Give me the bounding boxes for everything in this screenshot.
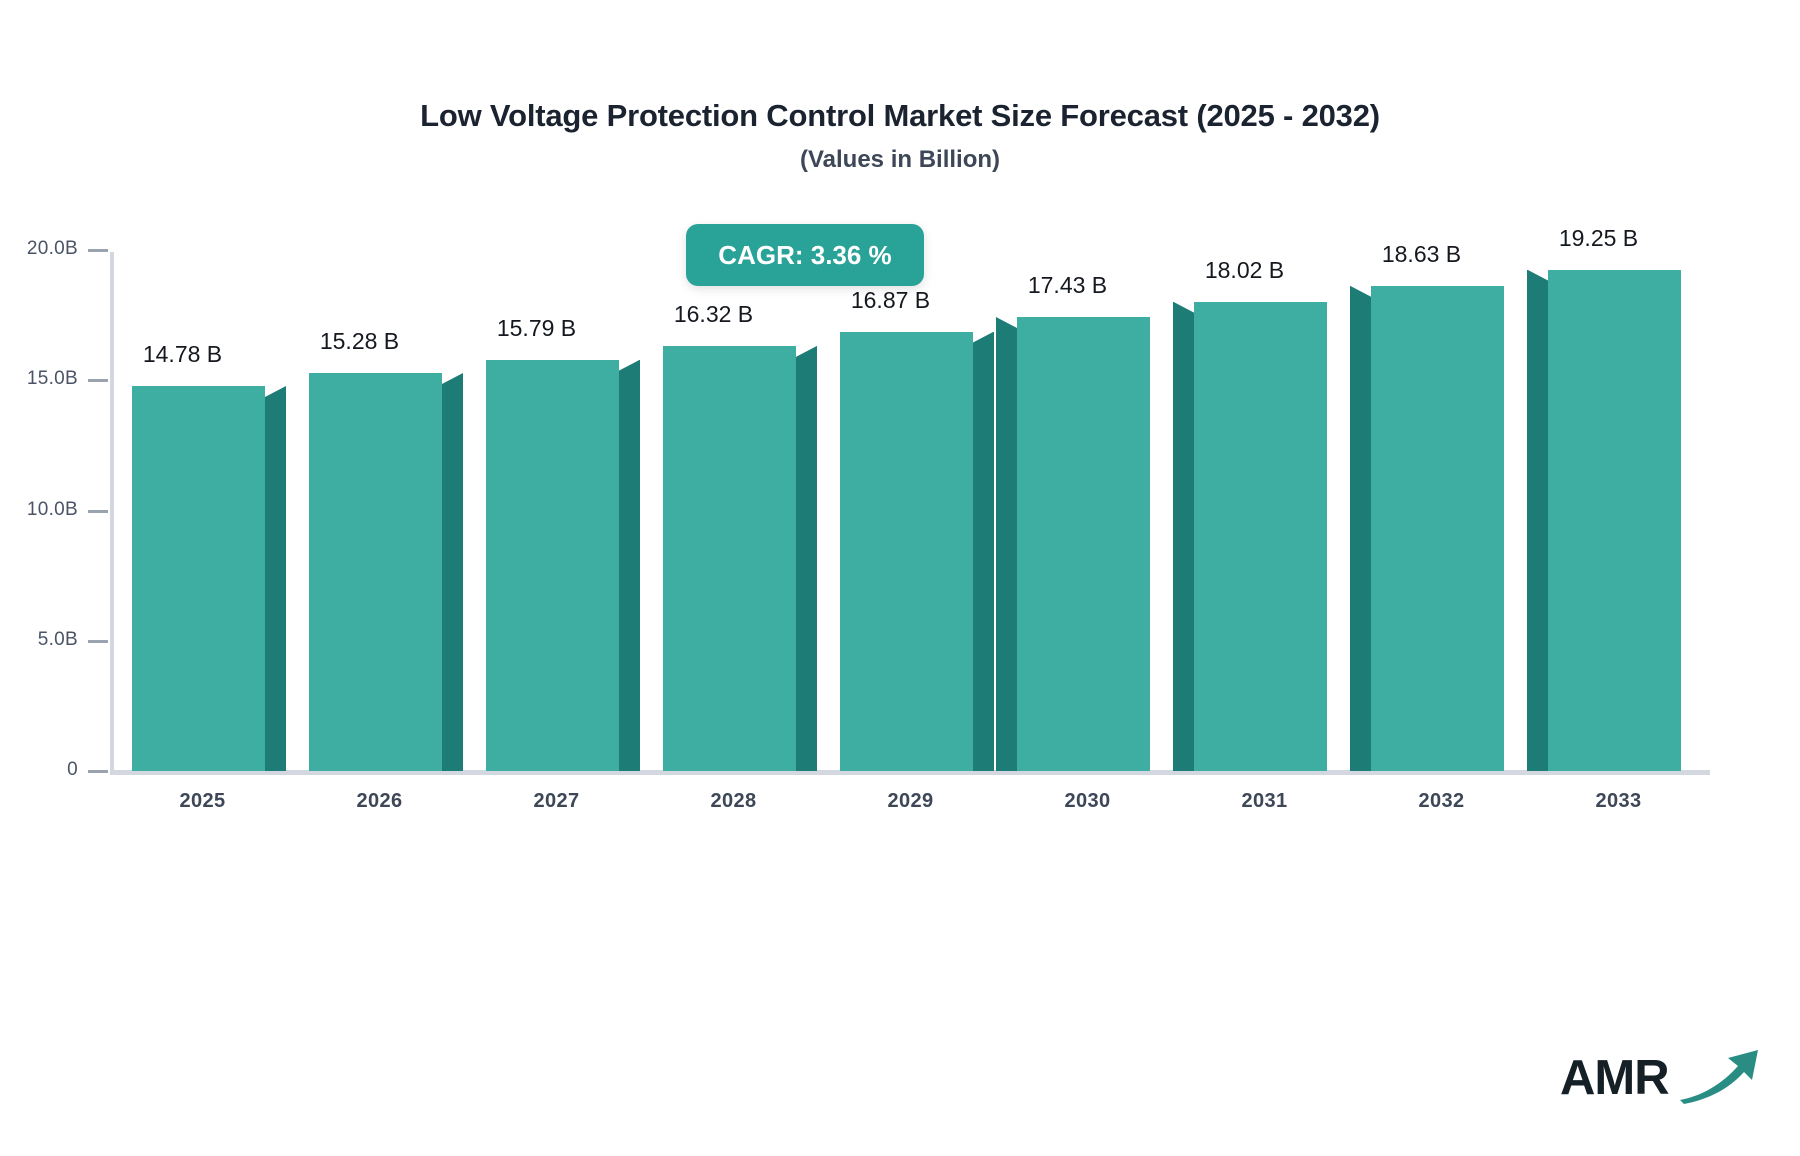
x-axis-label: 2031 bbox=[1176, 790, 1353, 813]
bar-value-label: 15.79 B bbox=[444, 315, 629, 342]
bar-slot: 18.63 B bbox=[1353, 250, 1530, 771]
y-axis-label: 20.0B bbox=[0, 238, 78, 260]
growth-arrow-icon bbox=[1678, 1042, 1764, 1106]
x-axis-label: 2027 bbox=[468, 790, 645, 813]
bar-value-label: 19.25 B bbox=[1506, 225, 1691, 252]
bar-slot: 16.87 B bbox=[822, 250, 999, 771]
amr-logo: AMR bbox=[1560, 1042, 1760, 1114]
bar-value-label: 16.87 B bbox=[798, 287, 983, 314]
bar-value-label: 18.63 B bbox=[1329, 241, 1514, 268]
y-axis-tick bbox=[88, 770, 108, 773]
x-axis-label: 2030 bbox=[999, 790, 1176, 813]
bar-slot: 19.25 B bbox=[1530, 250, 1707, 771]
cagr-badge: CAGR: 3.36 % bbox=[686, 224, 924, 286]
logo-text: AMR bbox=[1560, 1050, 1669, 1106]
y-axis-tick bbox=[88, 379, 108, 382]
y-axis-tick bbox=[88, 249, 108, 252]
bar[interactable] bbox=[840, 332, 973, 771]
y-axis-label: 10.0B bbox=[0, 499, 78, 521]
chart-subtitle: (Values in Billion) bbox=[0, 146, 1800, 174]
bar[interactable] bbox=[132, 386, 265, 771]
bar[interactable] bbox=[1371, 286, 1504, 771]
bar-value-label: 18.02 B bbox=[1152, 257, 1337, 284]
bar[interactable] bbox=[309, 373, 442, 771]
bar[interactable] bbox=[486, 360, 619, 771]
bar-slot: 15.79 B bbox=[468, 250, 645, 771]
bar-value-label: 16.32 B bbox=[621, 301, 806, 328]
y-axis-label: 0 bbox=[0, 759, 78, 781]
bar-value-label: 17.43 B bbox=[975, 272, 1160, 299]
x-axis-label: 2028 bbox=[645, 790, 822, 813]
bar-slot: 15.28 B bbox=[291, 250, 468, 771]
chart-page: Low Voltage Protection Control Market Si… bbox=[0, 0, 1800, 1156]
bar[interactable] bbox=[1548, 270, 1681, 771]
bar-series: 14.78 B15.28 B15.79 B16.32 B16.87 B17.43… bbox=[114, 250, 1710, 771]
y-axis-label: 5.0B bbox=[0, 629, 78, 651]
bar-value-label: 15.28 B bbox=[267, 328, 452, 355]
y-axis-tick bbox=[88, 510, 108, 513]
y-axis-tick bbox=[88, 640, 108, 643]
bar-slot: 16.32 B bbox=[645, 250, 822, 771]
y-axis-label: 15.0B bbox=[0, 368, 78, 390]
x-axis-label: 2026 bbox=[291, 790, 468, 813]
bar-slot: 14.78 B bbox=[114, 250, 291, 771]
bar-slot: 18.02 B bbox=[1176, 250, 1353, 771]
bar[interactable] bbox=[663, 346, 796, 771]
x-axis-label: 2029 bbox=[822, 790, 999, 813]
x-axis-label: 2033 bbox=[1530, 790, 1707, 813]
bar[interactable] bbox=[1017, 317, 1150, 771]
bar-value-label: 14.78 B bbox=[90, 341, 275, 368]
bar[interactable] bbox=[1194, 302, 1327, 771]
x-axis-label: 2025 bbox=[114, 790, 291, 813]
bar-slot: 17.43 B bbox=[999, 250, 1176, 771]
page-title: Low Voltage Protection Control Market Si… bbox=[0, 98, 1800, 134]
x-axis-label: 2032 bbox=[1353, 790, 1530, 813]
